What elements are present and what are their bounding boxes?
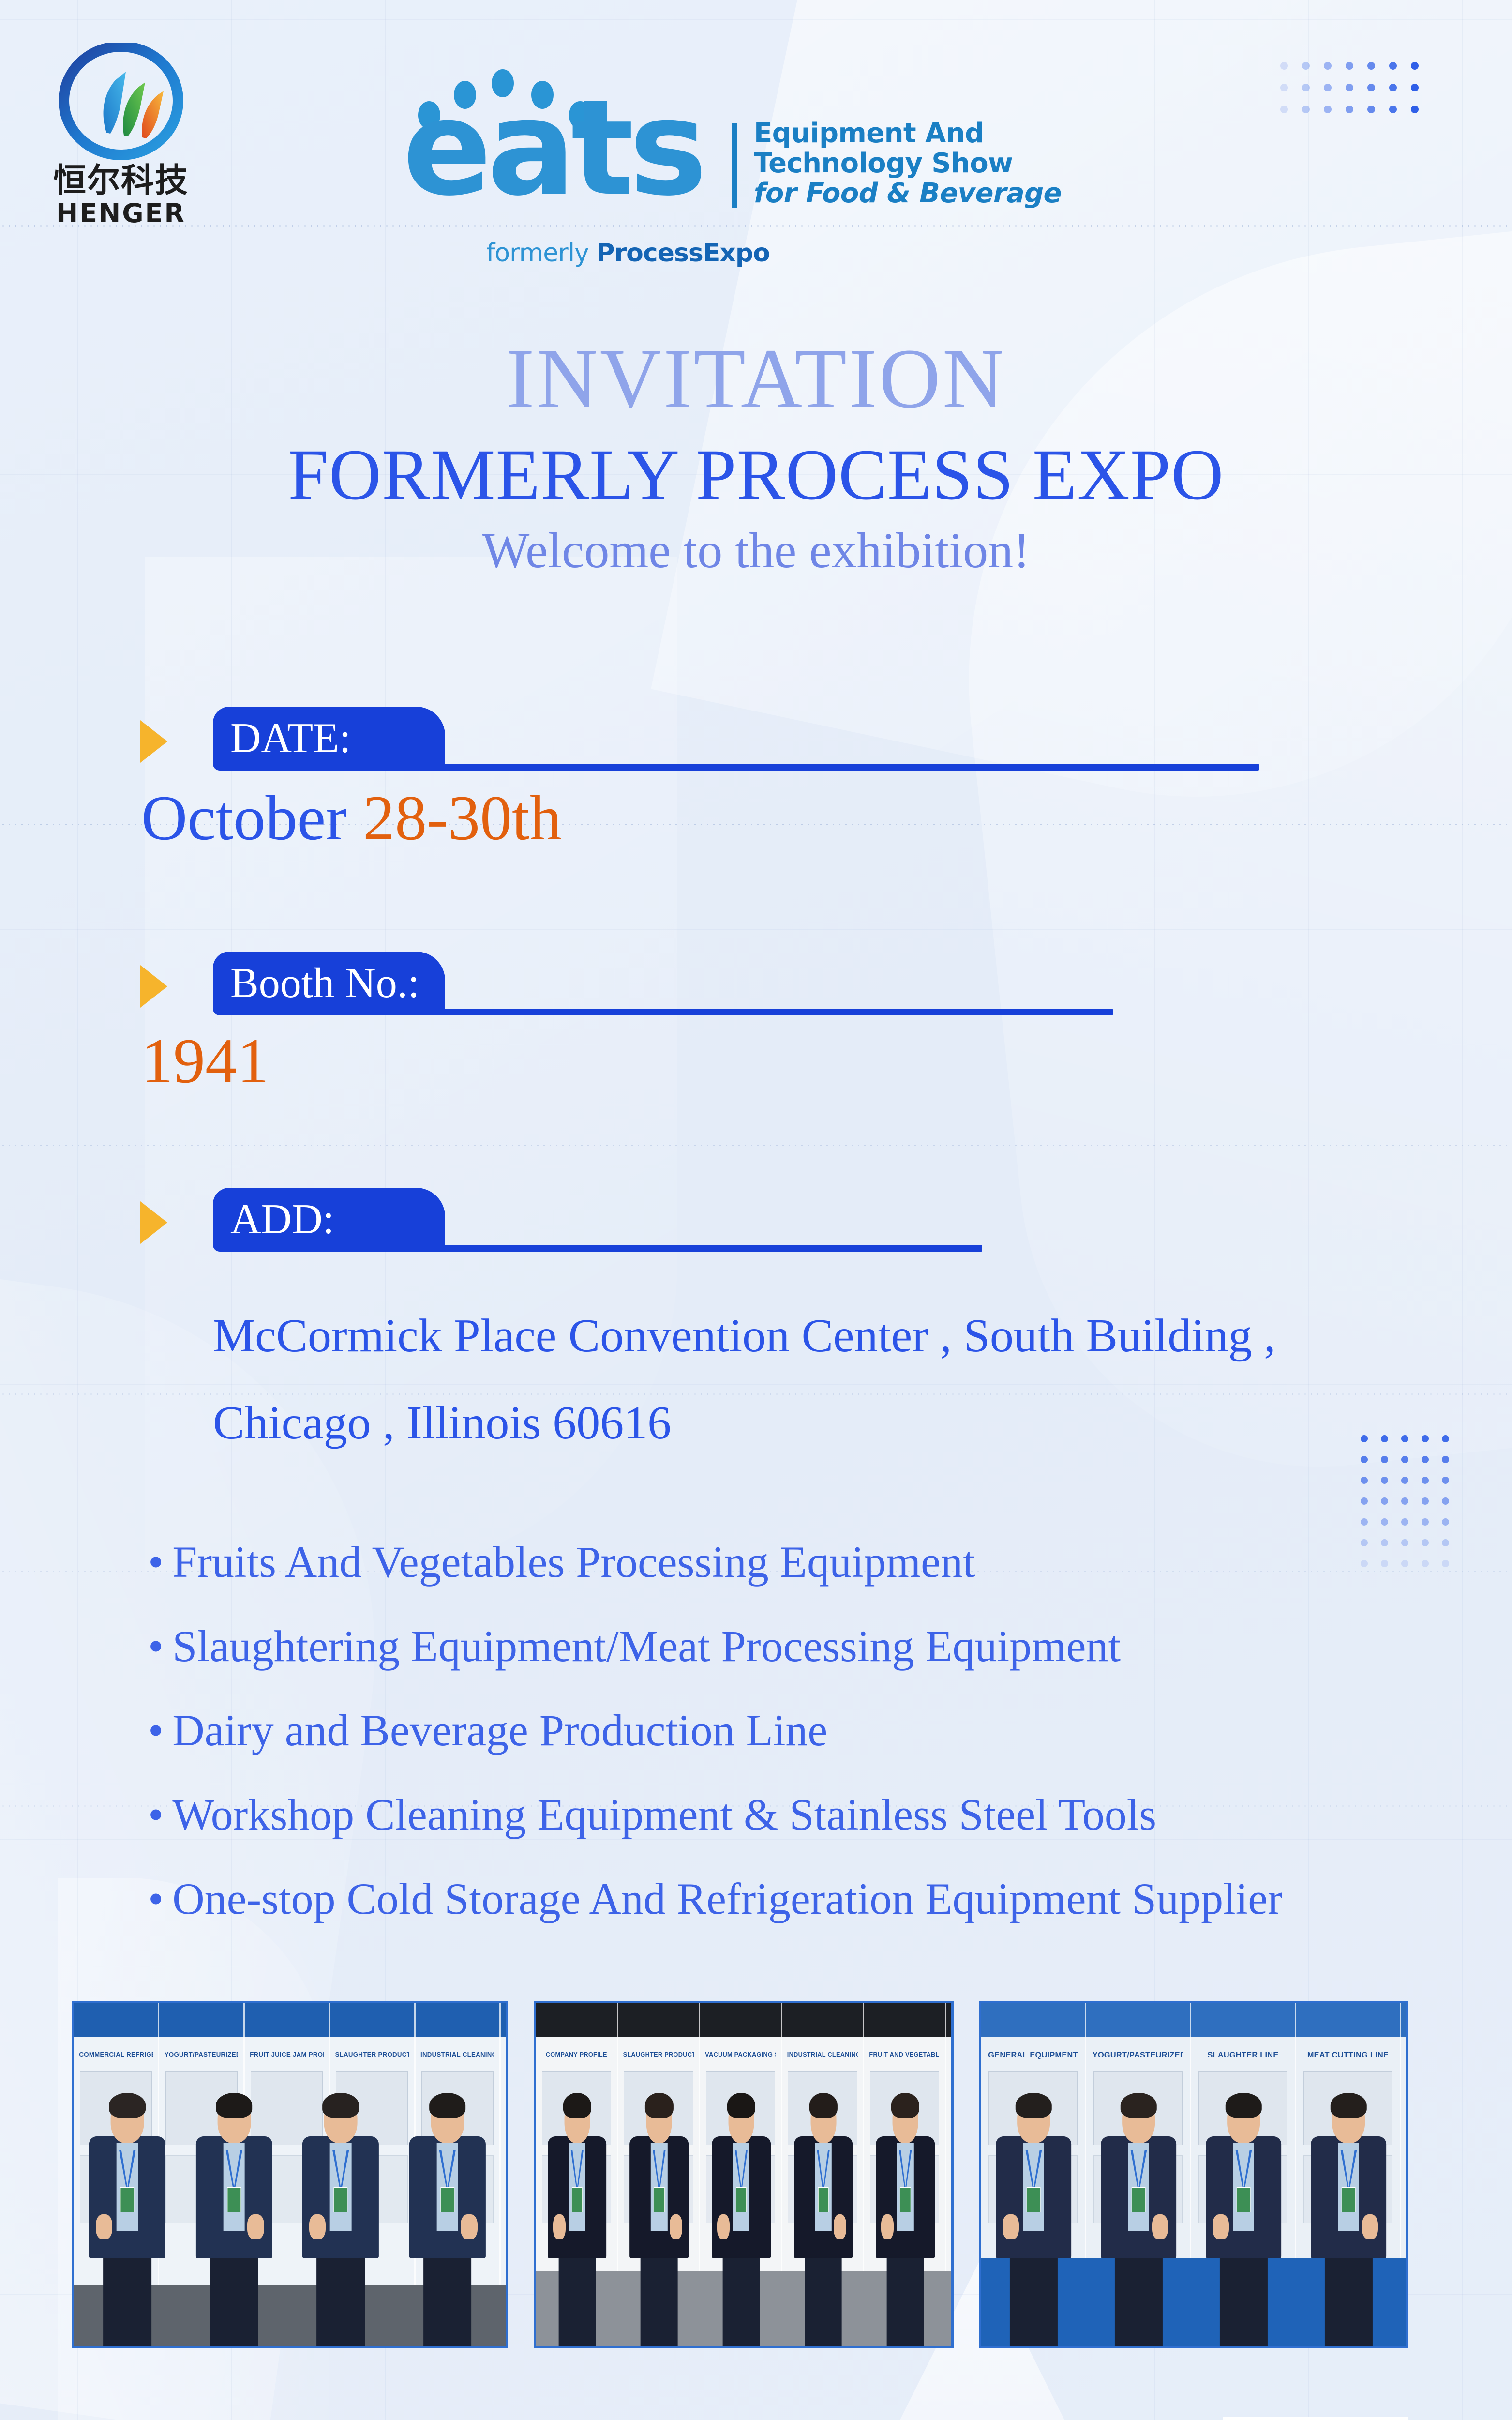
person-hair — [1016, 2093, 1051, 2118]
product-category-item: •Fruits And Vegetables Processing Equipm… — [148, 1520, 1416, 1604]
booth-panel-caption: COMPANY PROFILE — [541, 2051, 612, 2058]
person-badge — [736, 2187, 747, 2212]
product-category-item: •Workshop Cleaning Equipment & Stainless… — [148, 1772, 1416, 1857]
person-badge — [440, 2187, 454, 2212]
booth-panel-caption: GENERAL EQUIPMENT — [988, 2051, 1078, 2060]
date-label: DATE: — [230, 716, 351, 761]
eats-tagline-line2: Technology Show — [754, 149, 1062, 179]
bullet-dot-icon: • — [148, 1874, 164, 1923]
henger-emblem-icon — [48, 43, 194, 161]
henger-company-logo: 恒尔科技 HENGER — [48, 43, 194, 227]
address-underline — [305, 1245, 982, 1252]
eats-tagline: Equipment And Technology Show for Food &… — [754, 119, 1062, 209]
welcome-message: Welcome to the exhibition! — [0, 524, 1512, 578]
product-category-item: •Dairy and Beverage Production Line — [148, 1688, 1416, 1772]
poster-header: 恒尔科技 HENGER eats Equipment And Technolog… — [0, 0, 1512, 300]
booth-staff-person — [709, 2102, 773, 2346]
person-thumbs-up-hand — [247, 2214, 264, 2239]
person-hair — [1331, 2093, 1366, 2118]
product-category-label: Slaughtering Equipment/Meat Processing E… — [172, 1621, 1121, 1671]
henger-ring-icon — [48, 43, 194, 161]
person-legs — [423, 2245, 472, 2346]
person-hair — [109, 2093, 146, 2118]
product-category-label: Fruits And Vegetables Processing Equipme… — [172, 1537, 975, 1587]
qr-code-card — [1223, 2417, 1408, 2420]
eats-tagline-line3: for Food & Beverage — [754, 179, 1062, 209]
eats-formerly-label: formerly ProcessExpo — [486, 239, 770, 268]
date-value: October 28-30th — [141, 784, 562, 852]
bullet-dot-icon: • — [148, 1621, 164, 1671]
bullet-dot-icon: • — [148, 1706, 164, 1755]
booth-team-photo-1: COMMERCIAL REFRIGERATION EQUIPMENTYOGURT… — [72, 2001, 508, 2348]
booth-panel-caption: YOGURT/PASTEURIZED MILK PRODUCTION LINE — [165, 2051, 239, 2058]
bullet-dot-icon: • — [148, 1537, 164, 1587]
eats-tagline-line1: Equipment And — [754, 119, 1062, 149]
person-thumbs-up-hand — [96, 2214, 112, 2239]
eats-event-logo: eats Equipment And Technology Show for F… — [406, 46, 1161, 278]
person-legs — [805, 2245, 842, 2346]
person-thumbs-up-hand — [1213, 2214, 1229, 2239]
booth-panel-caption: SLAUGHTER PRODUCTION LINE — [623, 2051, 694, 2058]
person-thumbs-up-hand — [881, 2214, 894, 2239]
person-badge — [120, 2187, 135, 2212]
person-legs — [723, 2245, 760, 2346]
booth-wall: COMMERCIAL REFRIGERATION EQUIPMENTYOGURT… — [74, 2003, 506, 2346]
booth-panel-caption: INDUSTRIAL CLEANING EQUIPMENTS — [420, 2051, 494, 2058]
person-hair — [216, 2093, 253, 2118]
person-legs — [1010, 2245, 1057, 2346]
person-legs — [558, 2245, 596, 2346]
person-badge — [1132, 2187, 1146, 2212]
booth-staff-person — [627, 2102, 691, 2346]
person-legs — [1115, 2245, 1162, 2346]
person-legs — [103, 2245, 151, 2346]
booth-label-pill: Booth No.: — [213, 952, 445, 1015]
booth-panel-caption: SLAUGHTER LINE — [1198, 2051, 1288, 2060]
eats-divider — [732, 123, 737, 208]
product-category-item: •Slaughtering Equipment/Meat Processing … — [148, 1604, 1416, 1688]
person-thumbs-up-hand — [1152, 2214, 1168, 2239]
booth-staff-person — [406, 2102, 489, 2346]
triangle-marker-icon — [140, 720, 167, 763]
date-days: 28-30th — [363, 782, 562, 853]
booth-staff-person — [86, 2102, 169, 2346]
booth-staff-person — [1203, 2102, 1285, 2346]
person-thumbs-up-hand — [553, 2214, 566, 2239]
person-legs — [316, 2245, 365, 2346]
henger-chinese-name: 恒尔科技 — [48, 163, 194, 199]
person-legs — [641, 2245, 678, 2346]
booth-staff-person — [993, 2102, 1075, 2346]
booth-team-photo-3: GENERAL EQUIPMENTYOGURT/PASTEURIZED MILK… — [979, 2001, 1408, 2348]
henger-latin-name: HENGER — [48, 199, 194, 228]
product-category-item: •One-stop Cold Storage And Refrigeration… — [148, 1857, 1416, 1941]
page-title: INVITATION — [0, 334, 1512, 424]
page-subtitle: FORMERLY PROCESS EXPO — [0, 437, 1512, 513]
person-badge — [1342, 2187, 1356, 2212]
bullet-dot-icon: • — [148, 1790, 164, 1839]
formerly-prefix: formerly — [486, 239, 596, 268]
person-badge — [227, 2187, 241, 2212]
person-badge — [1237, 2187, 1251, 2212]
product-category-label: Workshop Cleaning Equipment & Stainless … — [172, 1790, 1156, 1839]
background-dotted-line — [0, 1145, 1512, 1146]
booth-panel-caption: FRUIT JUICE JAM PRODUCTION LINE — [250, 2051, 324, 2058]
booth-staff-person — [1098, 2102, 1180, 2346]
date-underline — [305, 764, 1259, 771]
date-month: October — [141, 782, 363, 853]
person-thumbs-up-hand — [834, 2214, 846, 2239]
person-legs — [210, 2245, 258, 2346]
person-hair — [891, 2093, 919, 2118]
booth-wall: GENERAL EQUIPMENTYOGURT/PASTEURIZED MILK… — [981, 2003, 1406, 2346]
booth-staff-person — [873, 2102, 937, 2346]
person-hair — [429, 2093, 466, 2118]
person-hair — [645, 2093, 673, 2118]
address-value: McCormick Place Convention Center , Sout… — [213, 1292, 1389, 1467]
booth-panel-caption: VACUUM PACKAGING SHRINKING LINE — [705, 2051, 776, 2058]
address-line-1: McCormick Place Convention Center , Sout… — [213, 1292, 1389, 1379]
photo-gallery: COMMERCIAL REFRIGERATION EQUIPMENTYOGURT… — [72, 2001, 1441, 2348]
booth-panel-caption: COMMERCIAL REFRIGERATION EQUIPMENT — [79, 2051, 153, 2058]
triangle-marker-icon — [140, 1201, 167, 1244]
person-badge — [1027, 2187, 1041, 2212]
booth-staff-person — [193, 2102, 276, 2346]
person-thumbs-up-hand — [461, 2214, 477, 2239]
booth-panel-caption: FRUIT AND VEGETABLE PROCESSING — [869, 2051, 940, 2058]
person-legs — [1220, 2245, 1267, 2346]
person-hair — [322, 2093, 359, 2118]
person-hair — [809, 2093, 837, 2118]
person-hair — [727, 2093, 755, 2118]
person-legs — [887, 2245, 924, 2346]
address-line-2: Chicago , Illinois 60616 — [213, 1379, 1389, 1467]
booth-label: Booth No.: — [230, 961, 419, 1006]
booth-panel-caption: MEAT CUTTING LINE — [1302, 2051, 1393, 2060]
booth-underline — [305, 1009, 1113, 1015]
triangle-marker-icon — [140, 965, 167, 1008]
booth-panel-caption: SLAUGHTER PRODUCTION LINE — [335, 2051, 409, 2058]
address-label-pill: ADD: — [213, 1188, 445, 1252]
person-thumbs-up-hand — [670, 2214, 682, 2239]
formerly-name: ProcessExpo — [596, 239, 769, 268]
person-badge — [900, 2187, 911, 2212]
address-label: ADD: — [230, 1197, 334, 1242]
person-badge — [572, 2187, 583, 2212]
person-thumbs-up-hand — [717, 2214, 730, 2239]
person-hair — [1226, 2093, 1261, 2118]
eats-wordmark: eats — [403, 91, 703, 207]
person-thumbs-up-hand — [309, 2214, 326, 2239]
poster-footer: www.sdhengergroup.com Henger Manufacturi… — [0, 2390, 1512, 2420]
product-category-list: •Fruits And Vegetables Processing Equipm… — [148, 1520, 1416, 1941]
booth-panel-caption: YOGURT/PASTEURIZED MILK PRODUCTION LINE — [1093, 2051, 1183, 2060]
person-hair — [1121, 2093, 1156, 2118]
booth-panel-caption: INDUSTRIAL CLEANING EQUIPMENTS — [787, 2051, 858, 2058]
booth-staff-person — [545, 2102, 609, 2346]
product-category-label: Dairy and Beverage Production Line — [172, 1706, 827, 1755]
booth-staff-person — [1308, 2102, 1390, 2346]
person-badge — [654, 2187, 664, 2212]
person-badge — [818, 2187, 828, 2212]
person-thumbs-up-hand — [1003, 2214, 1019, 2239]
person-thumbs-up-hand — [1362, 2214, 1378, 2239]
person-hair — [563, 2093, 591, 2118]
booth-number-value: 1941 — [141, 1027, 269, 1095]
invitation-poster: 恒尔科技 HENGER eats Equipment And Technolog… — [0, 0, 1512, 2420]
product-category-label: One-stop Cold Storage And Refrigeration … — [172, 1874, 1283, 1923]
booth-team-photo-2: COMPANY PROFILESLAUGHTER PRODUCTION LINE… — [534, 2001, 954, 2348]
booth-staff-person — [299, 2102, 382, 2346]
booth-wall: COMPANY PROFILESLAUGHTER PRODUCTION LINE… — [536, 2003, 951, 2346]
booth-staff-person — [791, 2102, 855, 2346]
date-label-pill: DATE: — [213, 707, 445, 771]
title-block: INVITATION FORMERLY PROCESS EXPO Welcome… — [0, 334, 1512, 578]
person-legs — [1325, 2245, 1372, 2346]
person-badge — [334, 2187, 348, 2212]
